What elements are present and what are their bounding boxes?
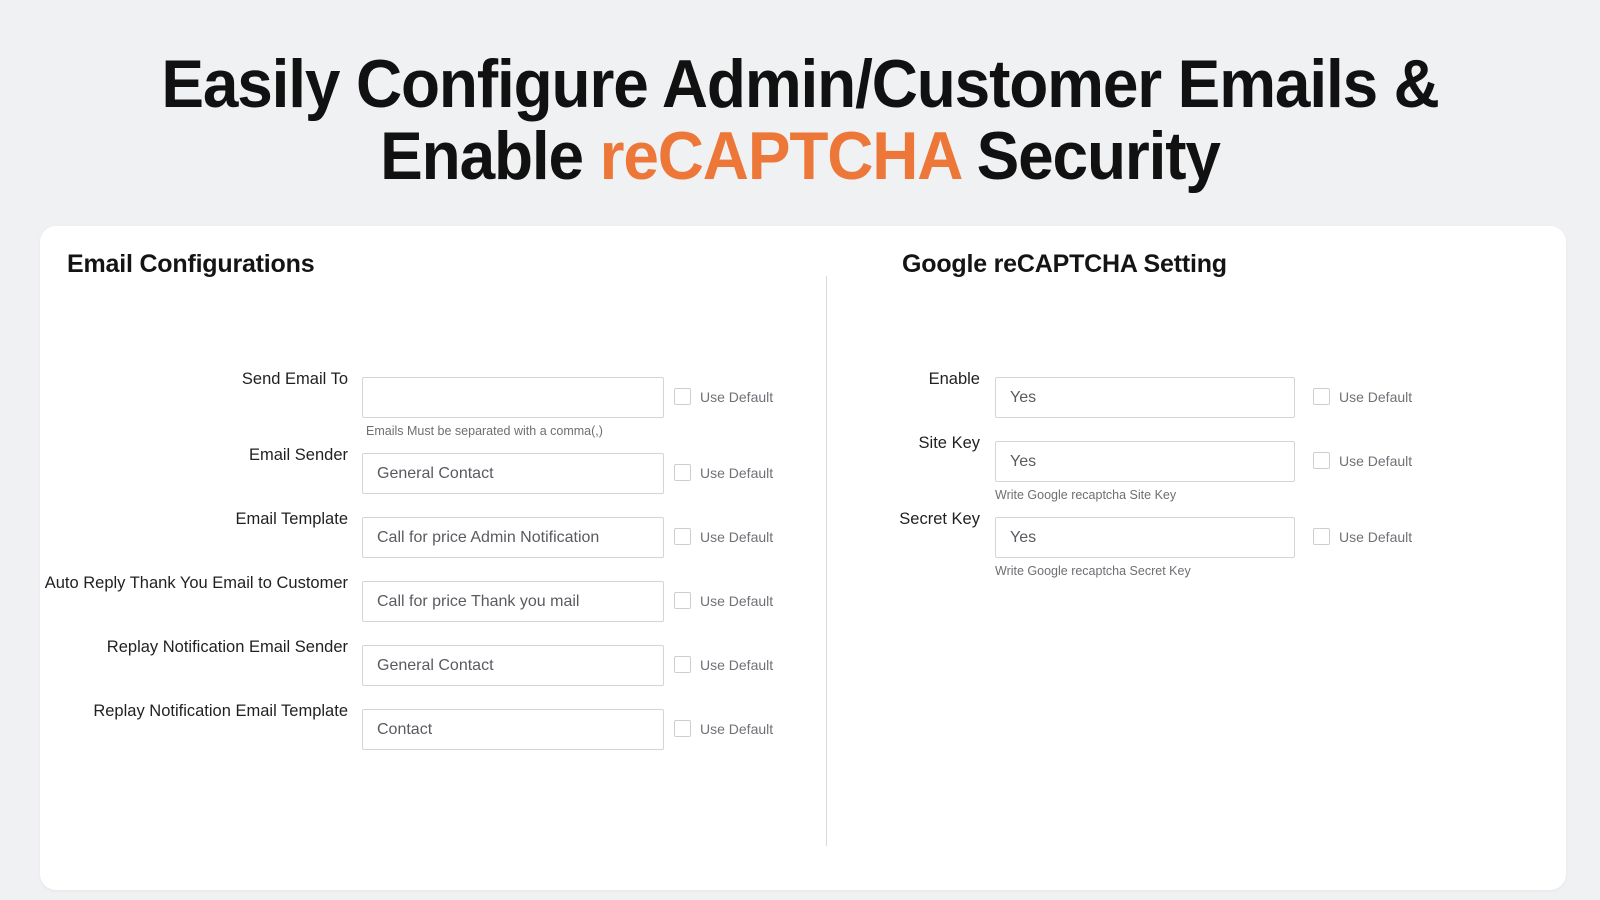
checkbox-icon[interactable] — [674, 388, 691, 405]
checkbox-icon[interactable] — [1313, 388, 1330, 405]
checkbox-icon[interactable] — [674, 720, 691, 737]
heading-line-1: Easily Configure Admin/Customer Emails & — [133, 48, 1468, 120]
use-default-replay-notification-email-sender[interactable]: Use Default — [674, 656, 773, 673]
input-value-replay-notification-email-template: Contact — [377, 721, 432, 739]
hint-secret-key: Write Google recaptcha Secret Key — [995, 564, 1191, 578]
heading-line-2-before: Enable — [380, 118, 599, 194]
form-row-site-key: Site Key Yes Write Google recaptcha Site… — [827, 418, 1566, 494]
heading-line-2-after: Security — [960, 118, 1220, 194]
use-default-email-template[interactable]: Use Default — [674, 528, 773, 545]
input-secret-key[interactable]: Yes — [995, 517, 1295, 558]
input-email-sender[interactable]: General Contact — [362, 453, 664, 494]
input-site-key[interactable]: Yes — [995, 441, 1295, 482]
google-recaptcha-form: Enable Yes Use Default Site Key — [827, 354, 1566, 570]
form-row-email-template: Email Template Call for price Admin Noti… — [40, 494, 826, 558]
input-value-email-template: Call for price Admin Notification — [377, 529, 599, 547]
label-auto-reply-thank-you: Auto Reply Thank You Email to Customer — [40, 574, 348, 593]
label-send-email-to: Send Email To — [40, 370, 348, 389]
input-value-enable: Yes — [1010, 389, 1036, 407]
email-configurations-form: Send Email To Emails Must be separated w… — [40, 354, 826, 750]
use-default-label: Use Default — [700, 529, 773, 545]
input-value-auto-reply-thank-you: Call for price Thank you mail — [377, 593, 579, 611]
form-row-email-sender: Email Sender General Contact Use Default — [40, 430, 826, 494]
use-default-label: Use Default — [1339, 389, 1412, 405]
checkbox-icon[interactable] — [1313, 452, 1330, 469]
checkbox-icon[interactable] — [1313, 528, 1330, 545]
form-row-replay-notification-email-sender: Replay Notification Email Sender General… — [40, 622, 826, 686]
use-default-label: Use Default — [700, 657, 773, 673]
use-default-label: Use Default — [1339, 453, 1412, 469]
settings-card: Email Configurations Send Email To Email… — [40, 226, 1566, 890]
checkbox-icon[interactable] — [674, 528, 691, 545]
form-row-enable: Enable Yes Use Default — [827, 354, 1566, 418]
label-email-template: Email Template — [40, 510, 348, 529]
label-enable: Enable — [847, 370, 980, 389]
use-default-site-key[interactable]: Use Default — [1313, 452, 1412, 469]
label-secret-key: Secret Key — [847, 510, 980, 529]
use-default-auto-reply-thank-you[interactable]: Use Default — [674, 592, 773, 609]
form-row-send-email-to: Send Email To Emails Must be separated w… — [40, 354, 826, 430]
heading-accent-recaptcha: reCAPTCHA — [600, 118, 960, 194]
email-configurations-title: Email Configurations — [67, 250, 314, 279]
heading-line-2: Enable reCAPTCHA Security — [133, 120, 1468, 192]
label-email-sender: Email Sender — [40, 446, 348, 465]
input-send-email-to[interactable] — [362, 377, 664, 418]
use-default-email-sender[interactable]: Use Default — [674, 464, 773, 481]
use-default-label: Use Default — [700, 389, 773, 405]
use-default-label: Use Default — [1339, 529, 1412, 545]
form-row-replay-notification-email-template: Replay Notification Email Template Conta… — [40, 686, 826, 750]
input-value-replay-notification-email-sender: General Contact — [377, 657, 494, 675]
use-default-send-email-to[interactable]: Use Default — [674, 388, 773, 405]
use-default-secret-key[interactable]: Use Default — [1313, 528, 1412, 545]
input-replay-notification-email-template[interactable]: Contact — [362, 709, 664, 750]
input-value-email-sender: General Contact — [377, 465, 494, 483]
use-default-label: Use Default — [700, 465, 773, 481]
use-default-label: Use Default — [700, 593, 773, 609]
page-root: Easily Configure Admin/Customer Emails &… — [0, 0, 1600, 900]
label-site-key: Site Key — [847, 434, 980, 453]
use-default-enable[interactable]: Use Default — [1313, 388, 1412, 405]
label-replay-notification-email-template: Replay Notification Email Template — [40, 702, 348, 721]
use-default-label: Use Default — [700, 721, 773, 737]
checkbox-icon[interactable] — [674, 464, 691, 481]
input-value-secret-key: Yes — [1010, 529, 1036, 547]
input-auto-reply-thank-you[interactable]: Call for price Thank you mail — [362, 581, 664, 622]
label-replay-notification-email-sender: Replay Notification Email Sender — [40, 638, 348, 657]
page-heading: Easily Configure Admin/Customer Emails &… — [0, 48, 1600, 192]
google-recaptcha-title: Google reCAPTCHA Setting — [902, 250, 1227, 279]
use-default-replay-notification-email-template[interactable]: Use Default — [674, 720, 773, 737]
form-row-auto-reply-thank-you: Auto Reply Thank You Email to Customer C… — [40, 558, 826, 622]
checkbox-icon[interactable] — [674, 656, 691, 673]
input-value-site-key: Yes — [1010, 453, 1036, 471]
checkbox-icon[interactable] — [674, 592, 691, 609]
input-replay-notification-email-sender[interactable]: General Contact — [362, 645, 664, 686]
input-email-template[interactable]: Call for price Admin Notification — [362, 517, 664, 558]
input-enable[interactable]: Yes — [995, 377, 1295, 418]
form-row-secret-key: Secret Key Yes Write Google recaptcha Se… — [827, 494, 1566, 570]
